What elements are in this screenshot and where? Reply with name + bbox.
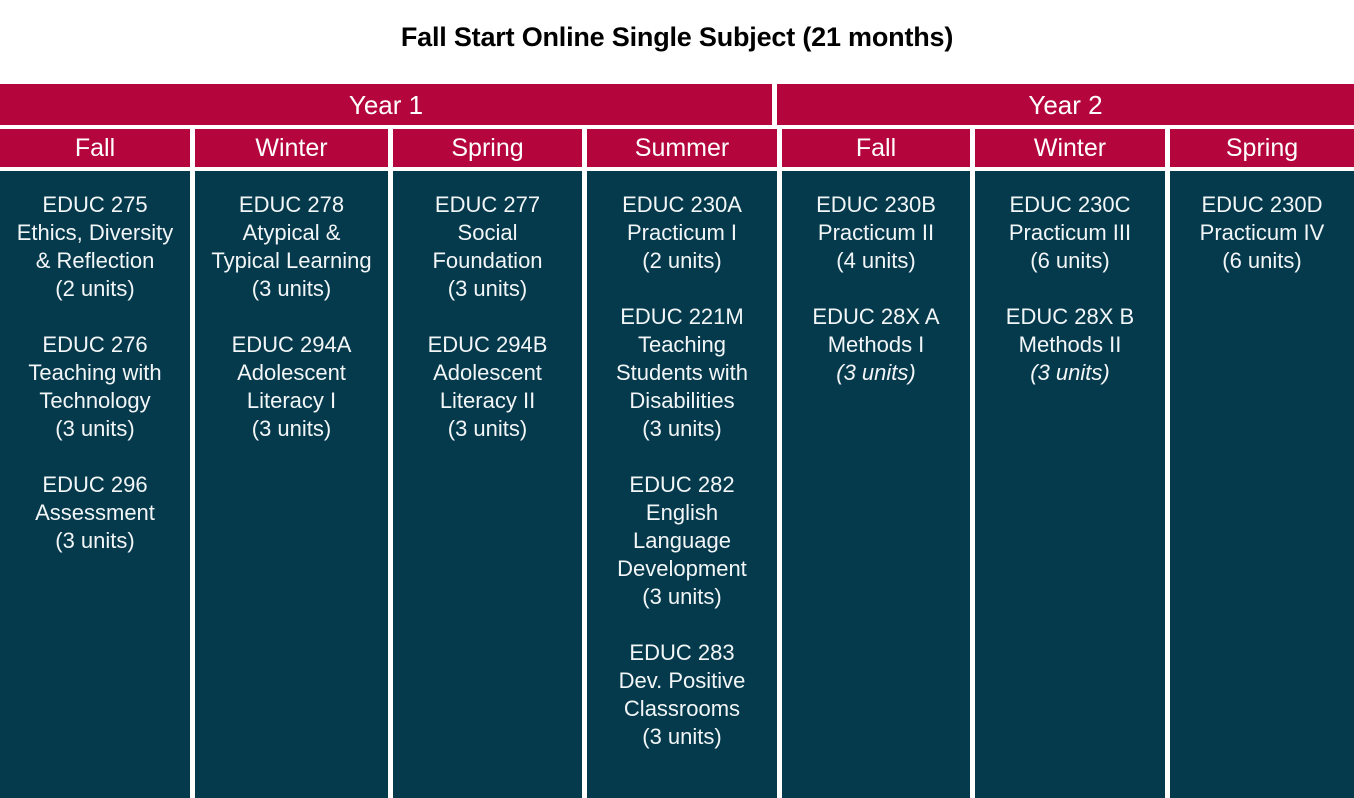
course-column-y1-fall: EDUC 275Ethics, Diversity& Reflection(2 … xyxy=(0,171,190,798)
course-title-line: Literacy I xyxy=(195,387,388,415)
course-title-line: Adolescent xyxy=(393,359,582,387)
course-code: EDUC 282 xyxy=(587,471,777,499)
term-header-row: Fall Winter Spring Summer Fall Winter Sp… xyxy=(0,129,1354,167)
course-title-line: Dev. Positive xyxy=(587,667,777,695)
course-code: EDUC 276 xyxy=(0,331,190,359)
course-title-line: Assessment xyxy=(0,499,190,527)
course-code: EDUC 278 xyxy=(195,191,388,219)
term-header-y2-fall: Fall xyxy=(782,129,970,167)
course-units: (2 units) xyxy=(587,247,777,275)
course-title-line: Practicum I xyxy=(587,219,777,247)
course-entry: EDUC 282EnglishLanguageDevelopment(3 uni… xyxy=(587,471,777,611)
curriculum-table: Year 1 Year 2 Fall Winter Spring Summer … xyxy=(0,84,1354,798)
course-column-y1-summer: EDUC 230APracticum I(2 units)EDUC 221MTe… xyxy=(587,171,777,798)
course-column-y2-fall: EDUC 230BPracticum II(4 units)EDUC 28X A… xyxy=(782,171,970,798)
course-title-line: & Reflection xyxy=(0,247,190,275)
course-code: EDUC 283 xyxy=(587,639,777,667)
course-title-line: Technology xyxy=(0,387,190,415)
course-column-y2-spring: EDUC 230DPracticum IV(6 units) xyxy=(1170,171,1354,798)
course-title-line: Practicum II xyxy=(782,219,970,247)
course-entry: EDUC 296Assessment(3 units) xyxy=(0,471,190,555)
course-units: (3 units) xyxy=(195,275,388,303)
course-code: EDUC 28X A xyxy=(782,303,970,331)
course-entry: EDUC 294BAdolescentLiteracy II(3 units) xyxy=(393,331,582,443)
course-title-line: English xyxy=(587,499,777,527)
course-units: (2 units) xyxy=(0,275,190,303)
course-title-line: Foundation xyxy=(393,247,582,275)
course-units: (3 units) xyxy=(587,415,777,443)
course-code: EDUC 230B xyxy=(782,191,970,219)
course-code: EDUC 221M xyxy=(587,303,777,331)
term-header-y1-spring: Spring xyxy=(393,129,582,167)
course-title-line: Typical Learning xyxy=(195,247,388,275)
course-title-line: Language xyxy=(587,527,777,555)
course-units: (3 units) xyxy=(587,723,777,751)
course-units: (3 units) xyxy=(393,275,582,303)
course-units: (3 units) xyxy=(195,415,388,443)
course-entry: EDUC 230APracticum I(2 units) xyxy=(587,191,777,275)
course-title-line: Practicum IV xyxy=(1170,219,1354,247)
course-code: EDUC 275 xyxy=(0,191,190,219)
course-title-line: Atypical & xyxy=(195,219,388,247)
course-title-line: Development xyxy=(587,555,777,583)
course-units: (3 units) xyxy=(0,527,190,555)
course-column-y1-winter: EDUC 278Atypical &Typical Learning(3 uni… xyxy=(195,171,388,798)
course-entry: EDUC 221MTeachingStudents withDisabiliti… xyxy=(587,303,777,443)
course-title-line: Practicum III xyxy=(975,219,1165,247)
course-title-line: Teaching with xyxy=(0,359,190,387)
course-title-line: Ethics, Diversity xyxy=(0,219,190,247)
course-entry: EDUC 230CPracticum III(6 units) xyxy=(975,191,1165,275)
course-units: (3 units) xyxy=(782,359,970,387)
course-entry: EDUC 277SocialFoundation(3 units) xyxy=(393,191,582,303)
year-header-row: Year 1 Year 2 xyxy=(0,84,1354,125)
course-code: EDUC 277 xyxy=(393,191,582,219)
course-body-row: EDUC 275Ethics, Diversity& Reflection(2 … xyxy=(0,171,1354,798)
course-code: EDUC 294B xyxy=(393,331,582,359)
course-entry: EDUC 276Teaching withTechnology(3 units) xyxy=(0,331,190,443)
course-code: EDUC 230D xyxy=(1170,191,1354,219)
course-code: EDUC 230A xyxy=(587,191,777,219)
course-units: (3 units) xyxy=(587,583,777,611)
course-title-line: Adolescent xyxy=(195,359,388,387)
page-title: Fall Start Online Single Subject (21 mon… xyxy=(0,22,1354,53)
course-code: EDUC 28X B xyxy=(975,303,1165,331)
course-entry: EDUC 275Ethics, Diversity& Reflection(2 … xyxy=(0,191,190,303)
term-header-y1-fall: Fall xyxy=(0,129,190,167)
course-units: (6 units) xyxy=(1170,247,1354,275)
course-column-y2-winter: EDUC 230CPracticum III(6 units)EDUC 28X … xyxy=(975,171,1165,798)
course-entry: EDUC 294AAdolescentLiteracy I(3 units) xyxy=(195,331,388,443)
course-units: (3 units) xyxy=(393,415,582,443)
course-units: (3 units) xyxy=(975,359,1165,387)
term-header-y1-winter: Winter xyxy=(195,129,388,167)
course-title-line: Students with xyxy=(587,359,777,387)
course-entry: EDUC 283Dev. PositiveClassrooms(3 units) xyxy=(587,639,777,751)
course-entry: EDUC 230DPracticum IV(6 units) xyxy=(1170,191,1354,275)
course-entry: EDUC 230BPracticum II(4 units) xyxy=(782,191,970,275)
course-title-line: Methods II xyxy=(975,331,1165,359)
course-title-line: Teaching xyxy=(587,331,777,359)
term-header-y2-winter: Winter xyxy=(975,129,1165,167)
course-entry: EDUC 28X BMethods II(3 units) xyxy=(975,303,1165,387)
course-code: EDUC 294A xyxy=(195,331,388,359)
course-entry: EDUC 28X AMethods I(3 units) xyxy=(782,303,970,387)
course-title-line: Disabilities xyxy=(587,387,777,415)
course-code: EDUC 230C xyxy=(975,191,1165,219)
course-title-line: Methods I xyxy=(782,331,970,359)
term-header-y1-summer: Summer xyxy=(587,129,777,167)
course-title-line: Classrooms xyxy=(587,695,777,723)
course-title-line: Literacy II xyxy=(393,387,582,415)
course-schedule-page: Fall Start Online Single Subject (21 mon… xyxy=(0,0,1354,798)
course-title-line: Social xyxy=(393,219,582,247)
course-units: (4 units) xyxy=(782,247,970,275)
course-units: (3 units) xyxy=(0,415,190,443)
course-code: EDUC 296 xyxy=(0,471,190,499)
course-column-y1-spring: EDUC 277SocialFoundation(3 units)EDUC 29… xyxy=(393,171,582,798)
term-header-y2-spring: Spring xyxy=(1170,129,1354,167)
course-units: (6 units) xyxy=(975,247,1165,275)
year-header-year-1: Year 1 xyxy=(0,84,772,125)
course-entry: EDUC 278Atypical &Typical Learning(3 uni… xyxy=(195,191,388,303)
year-header-year-2: Year 2 xyxy=(777,84,1354,125)
